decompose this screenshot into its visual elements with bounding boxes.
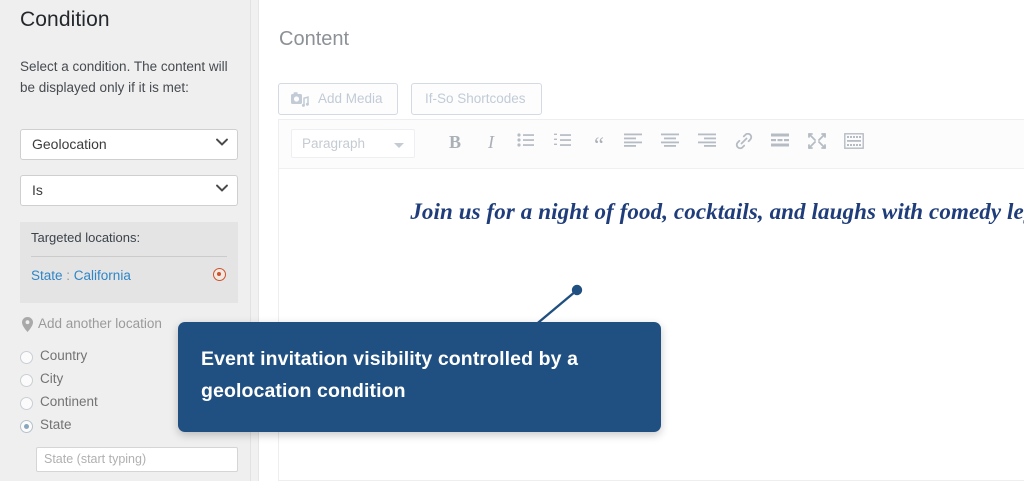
numbered-list-icon[interactable] [554, 133, 578, 157]
radio-indicator [20, 397, 33, 410]
panel-description: Select a condition. The content will be … [20, 56, 235, 98]
caret-down-icon [394, 143, 404, 148]
radio-city-label: City [40, 371, 63, 386]
editor-toolbar: Paragraph B I [279, 120, 1024, 169]
page-title: Condition [20, 8, 110, 32]
read-more-icon[interactable] [771, 133, 795, 157]
chevron-down-icon [216, 139, 228, 151]
ifso-shortcodes-label: If-So Shortcodes [425, 91, 526, 106]
chevron-down-icon [216, 185, 228, 197]
invitation-paragraph: Join us for a night of food, cocktails, … [309, 198, 1024, 226]
radio-state-label: State [40, 417, 72, 432]
targeted-location-type: State [31, 268, 63, 283]
remove-circle-icon[interactable] [213, 268, 226, 281]
callout-tooltip: Event invitation visibility controlled b… [178, 322, 661, 432]
targeted-location-value: California [74, 268, 131, 283]
toolbar-toggle-icon[interactable] [844, 133, 868, 157]
condition-type-select[interactable]: Geolocation [20, 129, 238, 160]
radio-continent-label: Continent [40, 394, 98, 409]
targeted-location-entry[interactable]: State : California [31, 268, 131, 283]
condition-operator-value: Is [32, 182, 43, 198]
content-heading: Content [279, 28, 349, 51]
map-pin-icon [22, 317, 33, 332]
condition-type-value: Geolocation [32, 136, 107, 152]
radio-indicator [20, 374, 33, 387]
list-item: State : California [31, 266, 227, 288]
invitation-text: Join us for a night of food, cocktails, … [410, 199, 1024, 224]
add-another-location-label: Add another location [38, 316, 162, 331]
link-icon[interactable] [734, 133, 758, 157]
add-media-button[interactable]: Add Media [278, 83, 398, 115]
ifso-shortcodes-button[interactable]: If-So Shortcodes [411, 83, 542, 115]
fullscreen-icon[interactable] [808, 133, 832, 157]
align-right-icon[interactable] [698, 133, 722, 157]
targeted-location-separator: : [63, 268, 74, 283]
blockquote-icon[interactable]: “ [587, 132, 611, 158]
bullet-list-icon[interactable] [517, 133, 541, 157]
targeted-locations-card: Targeted locations: State : California [20, 222, 238, 303]
bold-icon[interactable]: B [443, 132, 467, 153]
radio-indicator [20, 351, 33, 364]
italic-icon[interactable]: I [479, 132, 503, 153]
divider [31, 256, 227, 257]
format-select-value: Paragraph [302, 136, 365, 151]
callout-text: Event invitation visibility controlled b… [201, 343, 641, 407]
radio-indicator [20, 420, 33, 433]
state-input[interactable]: State (start typing) [36, 447, 238, 472]
media-icon [291, 92, 309, 108]
add-media-label: Add Media [318, 91, 383, 106]
targeted-locations-label: Targeted locations: [31, 230, 140, 245]
format-select[interactable]: Paragraph [291, 129, 415, 158]
state-input-placeholder: State (start typing) [44, 452, 146, 466]
condition-operator-select[interactable]: Is [20, 175, 238, 206]
radio-country-label: Country [40, 348, 87, 363]
align-left-icon[interactable] [624, 133, 648, 157]
align-center-icon[interactable] [661, 133, 685, 157]
